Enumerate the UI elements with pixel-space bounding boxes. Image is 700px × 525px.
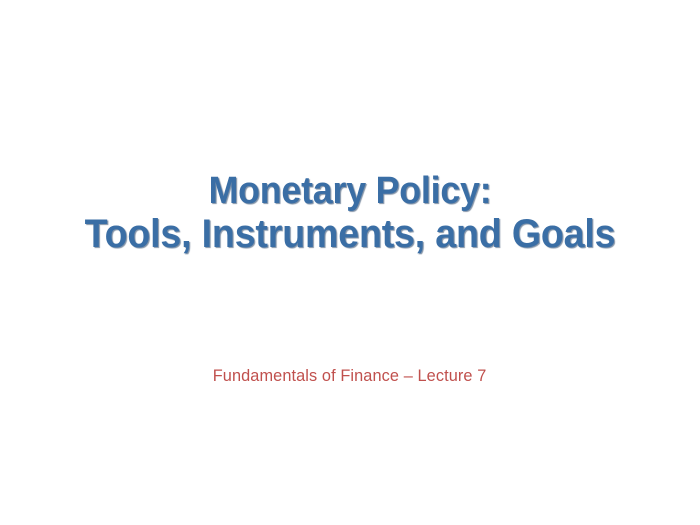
subtitle-text: Fundamentals of Finance – Lecture 7 xyxy=(213,366,487,386)
slide-subtitle: Fundamentals of Finance – Lecture 7 xyxy=(0,366,700,386)
presentation-slide: Monetary Policy: Tools, Instruments, and… xyxy=(0,0,700,525)
title-line-1: Monetary Policy: xyxy=(21,172,679,210)
slide-title: Monetary Policy: Tools, Instruments, and… xyxy=(0,172,700,254)
title-line-2: Tools, Instruments, and Goals xyxy=(21,214,679,254)
